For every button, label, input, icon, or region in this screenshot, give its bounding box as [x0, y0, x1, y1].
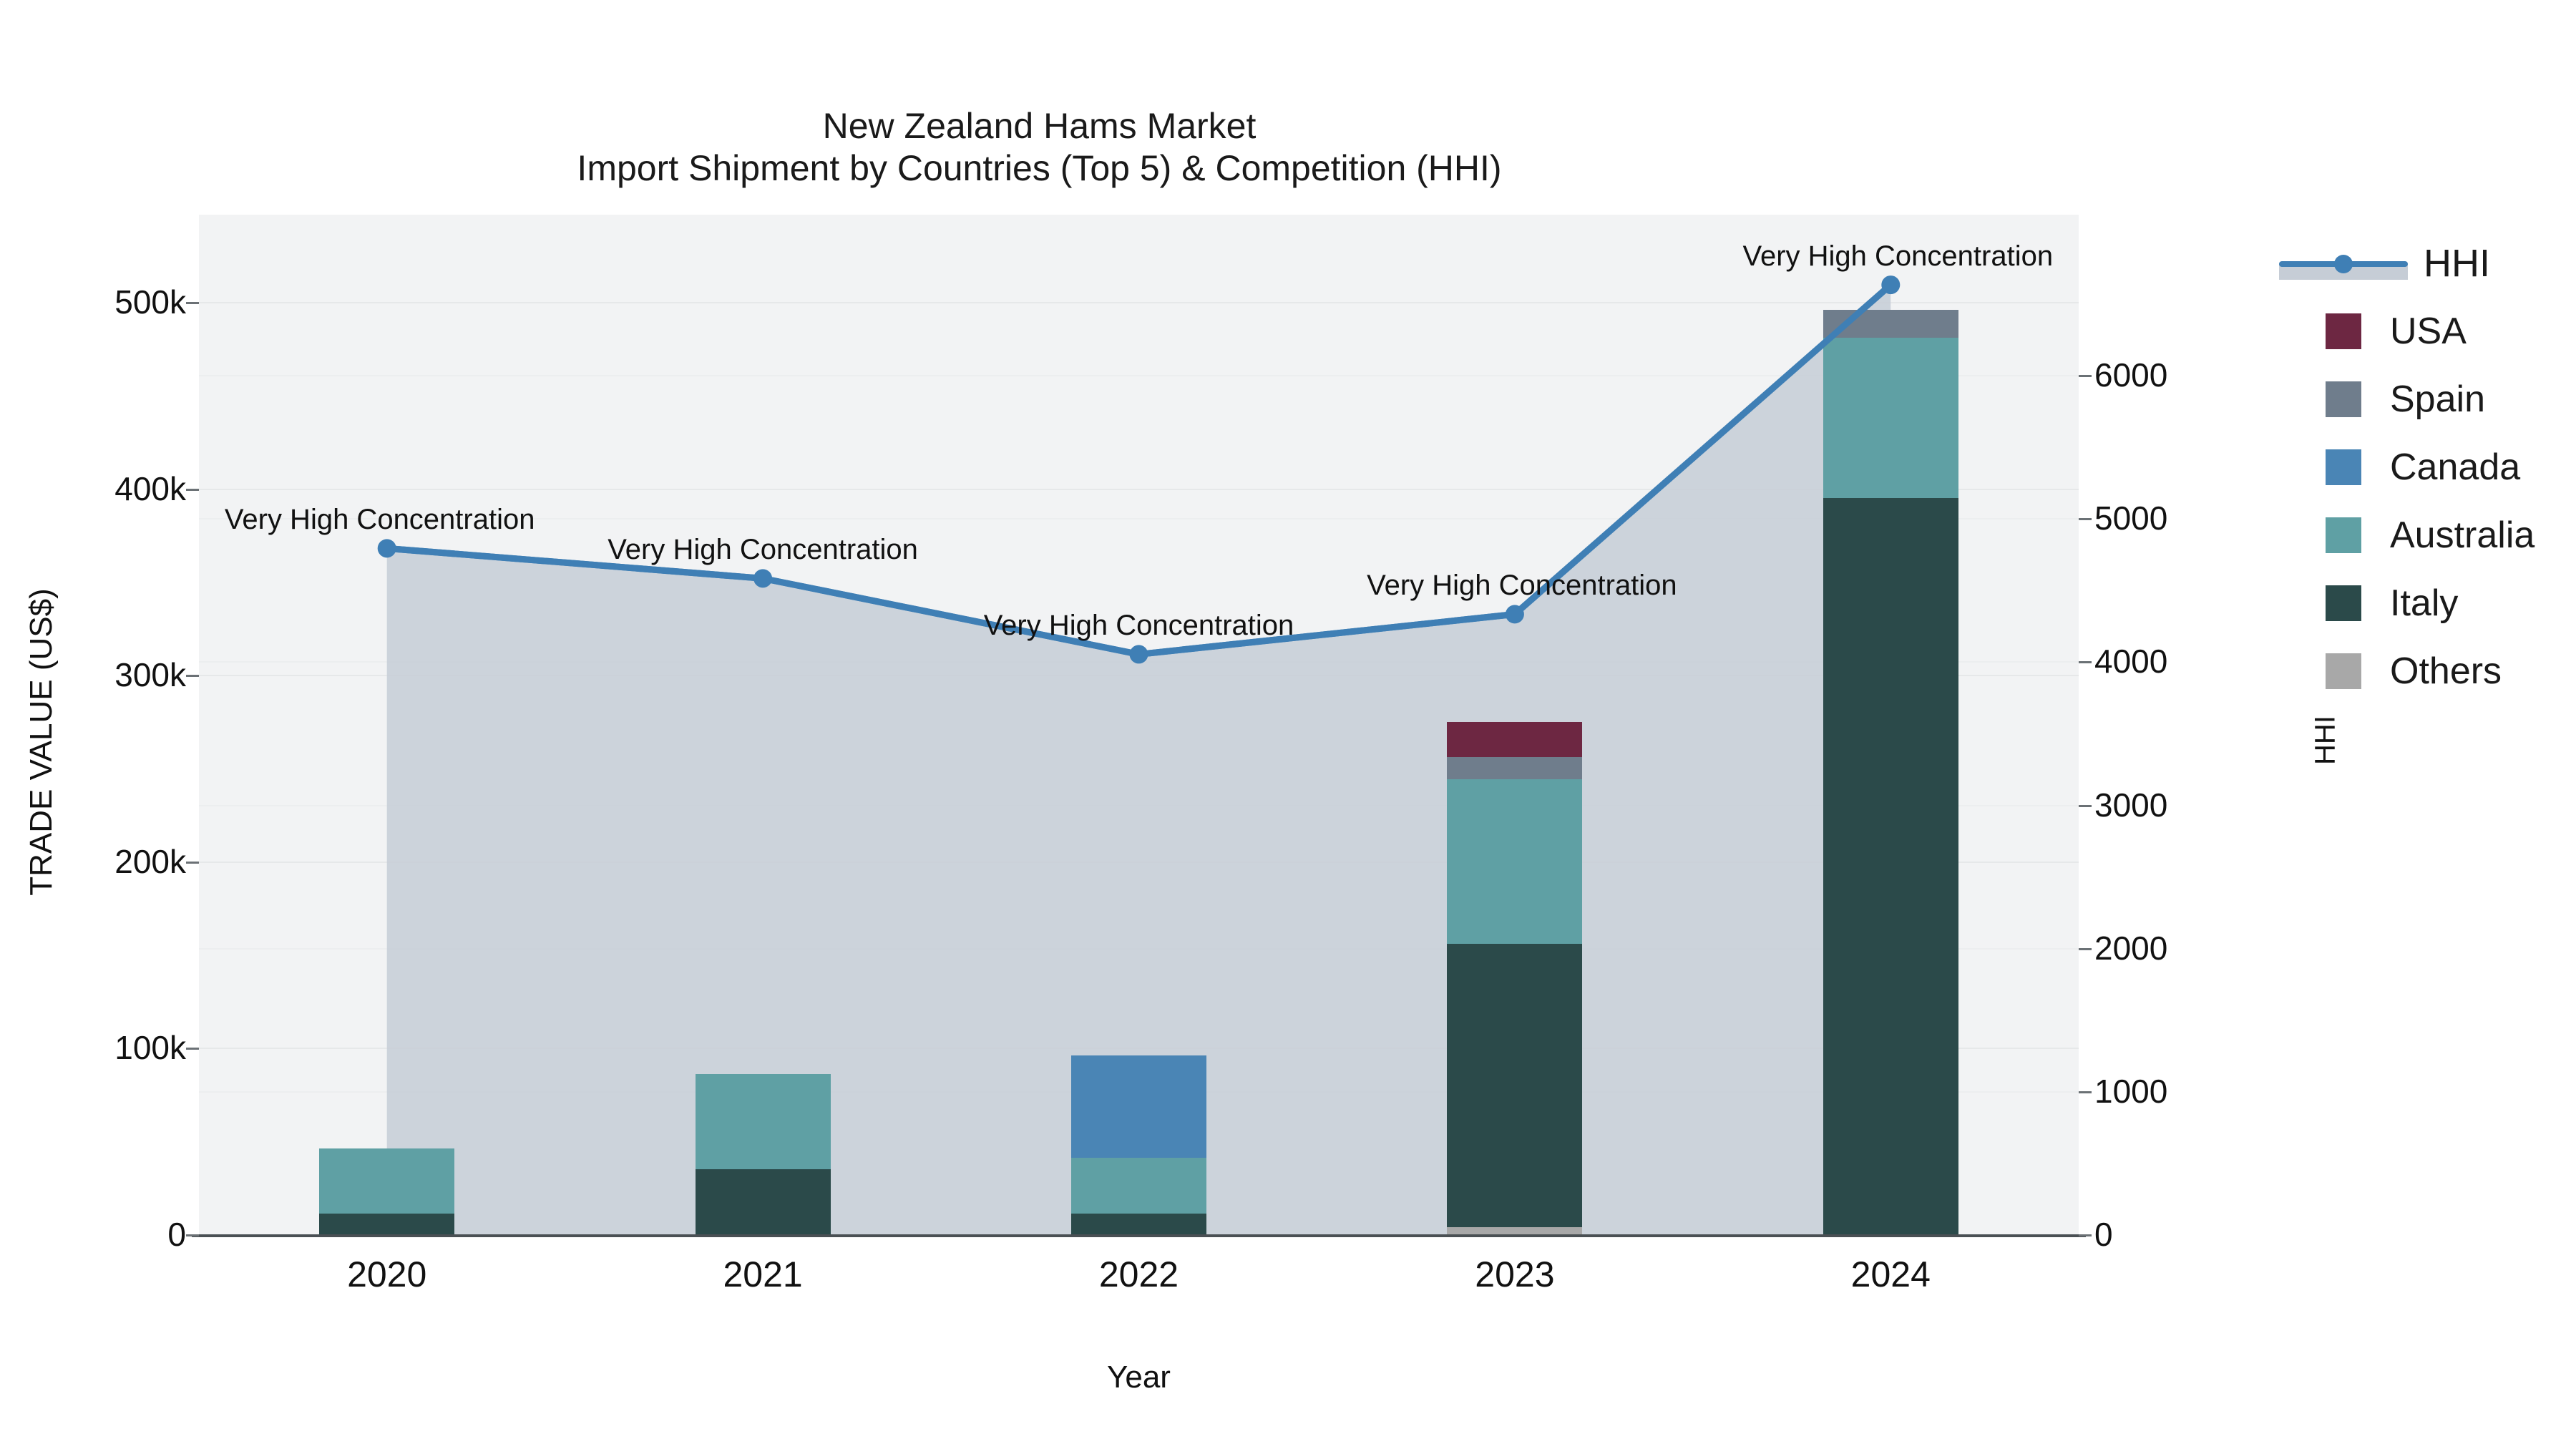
legend: HHIUSASpainCanadaAustraliaItalyOthers: [2279, 229, 2576, 705]
hhi-point-2022[interactable]: [1130, 645, 1148, 663]
legend-label-spain: Spain: [2390, 381, 2485, 418]
y-tick-label-0: 0: [21, 1215, 186, 1254]
chart-canvas: New Zealand Hams Market Import Shipment …: [0, 0, 2576, 1449]
legend-item-usa[interactable]: USA: [2279, 297, 2576, 365]
y2-tick-label-2000: 2000: [2094, 929, 2259, 967]
chart-title-line2: Import Shipment by Countries (Top 5) & C…: [0, 147, 2079, 190]
y-tick-mark: [186, 302, 199, 304]
legend-label-canada: Canada: [2390, 449, 2520, 486]
hhi-point-2024[interactable]: [1881, 275, 1900, 294]
y2-tick-mark: [2079, 948, 2092, 950]
x-tick-label-2020: 2020: [294, 1254, 480, 1295]
x-axis-title: Year: [199, 1360, 2079, 1395]
legend-swatch-icon-others: [2326, 653, 2361, 689]
annotation-2021: Very High Concentration: [608, 534, 918, 566]
x-tick-label-2022: 2022: [1046, 1254, 1232, 1295]
annotation-2024: Very High Concentration: [1743, 240, 2054, 273]
y-tick-mark: [186, 675, 199, 677]
legend-label-usa: USA: [2390, 313, 2467, 350]
hhi-point-2023[interactable]: [1506, 605, 1524, 623]
legend-label-others: Others: [2390, 653, 2502, 690]
y-tick-label-400k: 400k: [21, 469, 186, 508]
y-tick-mark: [186, 1234, 199, 1236]
legend-swatch-icon-australia: [2326, 517, 2361, 553]
legend-item-spain[interactable]: Spain: [2279, 365, 2576, 433]
hhi-point-2020[interactable]: [378, 539, 396, 557]
y-tick-label-100k: 100k: [21, 1028, 186, 1067]
hhi-markers: [199, 215, 2079, 1234]
y2-tick-mark: [2079, 375, 2092, 377]
y2-tick-mark: [2079, 1234, 2092, 1236]
y2-tick-mark: [2079, 661, 2092, 663]
annotation-2020: Very High Concentration: [225, 504, 535, 536]
chart-title-line1: New Zealand Hams Market: [823, 106, 1257, 146]
x-axis-line: [192, 1234, 2086, 1237]
legend-swatch-icon-usa: [2326, 313, 2361, 349]
y-tick-mark: [186, 1048, 199, 1050]
legend-swatch-icon-italy: [2326, 585, 2361, 621]
hhi-point-2021[interactable]: [753, 569, 772, 587]
legend-line-marker-icon: [2279, 245, 2408, 281]
legend-swatch-icon-canada: [2326, 449, 2361, 485]
y2-tick-mark: [2079, 1091, 2092, 1093]
x-tick-label-2023: 2023: [1422, 1254, 1608, 1295]
annotation-2022: Very High Concentration: [984, 610, 1294, 642]
y2-tick-mark: [2079, 518, 2092, 520]
y2-tick-mark: [2079, 805, 2092, 807]
y-axis-title: TRADE VALUE (US$): [24, 513, 59, 971]
y2-tick-label-4000: 4000: [2094, 642, 2259, 680]
legend-item-others[interactable]: Others: [2279, 637, 2576, 705]
legend-label-australia: Australia: [2390, 517, 2534, 554]
legend-swatch-icon-spain: [2326, 381, 2361, 417]
y-tick-mark: [186, 862, 199, 864]
y2-tick-label-5000: 5000: [2094, 499, 2259, 537]
legend-item-italy[interactable]: Italy: [2279, 569, 2576, 637]
x-tick-label-2021: 2021: [670, 1254, 856, 1295]
plot-area: [199, 215, 2079, 1234]
legend-item-canada[interactable]: Canada: [2279, 433, 2576, 501]
y2-tick-label-6000: 6000: [2094, 356, 2259, 394]
x-tick-label-2024: 2024: [1797, 1254, 1984, 1295]
legend-item-hhi[interactable]: HHI: [2279, 229, 2576, 297]
legend-item-australia[interactable]: Australia: [2279, 501, 2576, 569]
y2-tick-label-0: 0: [2094, 1215, 2259, 1254]
y2-tick-label-3000: 3000: [2094, 786, 2259, 824]
legend-label-italy: Italy: [2390, 585, 2458, 622]
y-tick-mark: [186, 489, 199, 491]
y2-tick-label-1000: 1000: [2094, 1072, 2259, 1111]
y-tick-label-500k: 500k: [21, 283, 186, 321]
legend-label-hhi: HHI: [2424, 244, 2490, 283]
chart-title: New Zealand Hams Market Import Shipment …: [0, 63, 2079, 232]
annotation-2023: Very High Concentration: [1367, 570, 1677, 602]
